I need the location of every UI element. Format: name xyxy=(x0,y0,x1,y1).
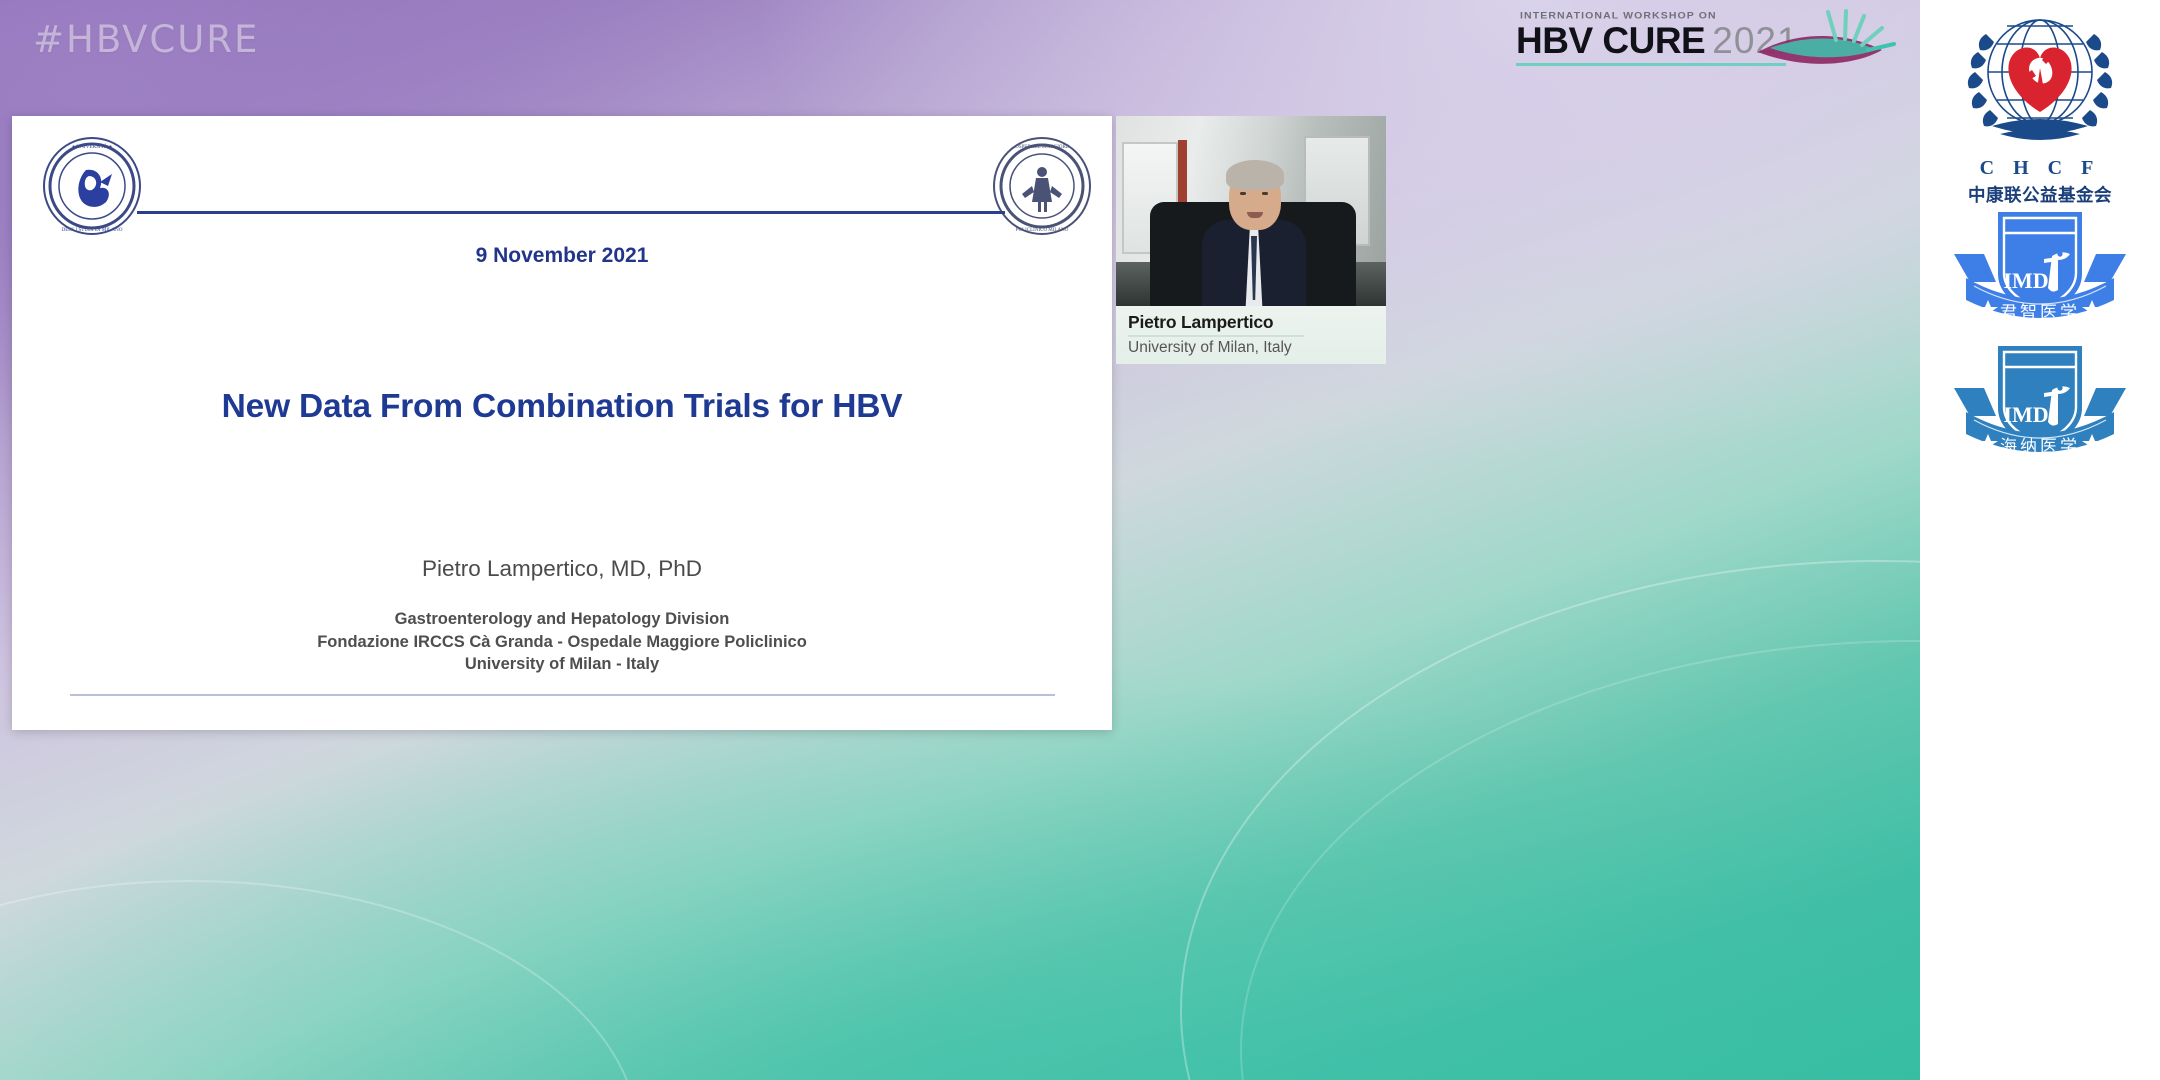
university-seal-icon: ● UNIVERSITÀ ● DEGLI STUDI DI MILANO xyxy=(42,136,142,236)
sponsor-imd-junzhi: IMD 君智医学 xyxy=(1920,196,2160,341)
globe-laurel-heart-icon xyxy=(1940,4,2140,154)
slide-header-rule xyxy=(137,211,1005,214)
slide-footer-rule xyxy=(70,694,1055,696)
hbv-cure-2021-logo: INTERNATIONAL WORKSHOP ON HBV CURE2021 xyxy=(1482,6,1902,90)
event-logo-swoosh-icon xyxy=(1750,8,1900,84)
affiliation-line: Gastroenterology and Hepatology Division xyxy=(12,608,1112,631)
slide-title: New Data From Combination Trials for HBV xyxy=(12,388,1112,426)
speaker-organization: University of Milan, Italy xyxy=(1128,339,1386,357)
slide-author: Pietro Lampertico, MD, PhD xyxy=(12,556,1112,582)
imd-shield-icon: IMD 君智医学 xyxy=(1940,196,2140,336)
svg-text:● UNIVERSITÀ ●: ● UNIVERSITÀ ● xyxy=(72,142,112,150)
video-speaker-eye-right xyxy=(1262,192,1268,195)
sponsor-chcf: C H C F 中康联公益基金会 xyxy=(1920,4,2160,207)
imd-shield-icon: IMD 海纳医学 xyxy=(1940,330,2140,470)
slide-date: 9 November 2021 xyxy=(12,244,1112,268)
svg-text:DEGLI STUDI DI MILANO: DEGLI STUDI DI MILANO xyxy=(62,227,123,233)
caption-divider xyxy=(1128,335,1304,337)
event-hashtag: #HBVCURE xyxy=(33,18,259,61)
imd-monogram: IMD xyxy=(2003,402,2048,427)
imd-monogram: IMD xyxy=(2003,268,2048,293)
video-speaker-eye-left xyxy=(1240,192,1246,195)
speaker-video[interactable] xyxy=(1116,116,1386,306)
affiliation-line: University of Milan - Italy xyxy=(12,653,1112,676)
policlinico-seal-icon: OSPEDALE MAGGIORE POLICLINICO MILANO xyxy=(992,136,1092,236)
video-scene xyxy=(1116,116,1386,306)
svg-text:OSPEDALE MAGGIORE: OSPEDALE MAGGIORE xyxy=(1015,145,1069,150)
speaker-name: Pietro Lampertico xyxy=(1128,312,1386,333)
imd-haina-chinese-name: 海纳医学 xyxy=(2000,437,2080,457)
slide-affiliation: Gastroenterology and Hepatology Division… xyxy=(12,608,1112,676)
event-logo-underline xyxy=(1516,63,1786,66)
video-speaker-hair xyxy=(1226,160,1284,190)
speaker-caption: Pietro Lampertico University of Milan, I… xyxy=(1116,306,1386,364)
chcf-abbreviation: C H C F xyxy=(1920,157,2160,180)
webinar-stage: #HBVCURE INTERNATIONAL WORKSHOP ON HBV C… xyxy=(0,0,1920,1080)
sponsor-imd-haina: IMD 海纳医学 xyxy=(1920,330,2160,475)
svg-text:POLICLINICO MILANO: POLICLINICO MILANO xyxy=(1016,228,1069,233)
presentation-slide: ● UNIVERSITÀ ● DEGLI STUDI DI MILANO OSP… xyxy=(12,116,1112,730)
affiliation-line: Fondazione IRCCS Cà Granda - Ospedale Ma… xyxy=(12,631,1112,654)
event-logo-title-text: HBV CURE xyxy=(1516,20,1705,61)
imd-junzhi-chinese-name: 君智医学 xyxy=(2000,303,2080,323)
sponsor-rail: C H C F 中康联公益基金会 IMD 君智医学 IMD xyxy=(1920,0,2160,1080)
